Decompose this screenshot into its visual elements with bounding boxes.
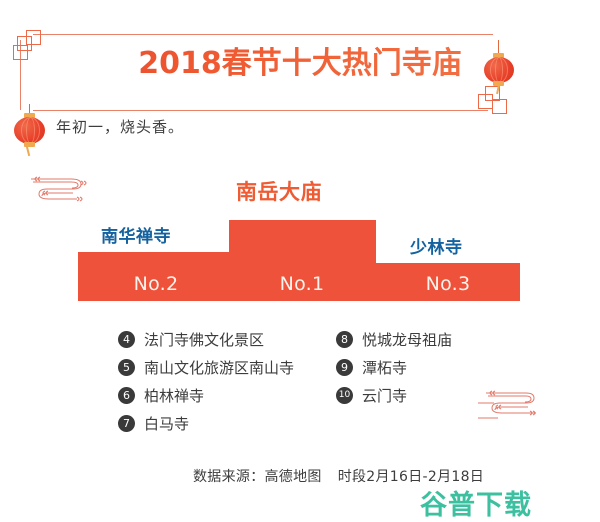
list-item: 6 柏林禅寺 [118,383,338,408]
list-item-label: 白马寺 [144,413,189,434]
rank-badge: 10 [336,387,353,404]
rank-badge: 5 [118,359,135,376]
list-item: 10 云门寺 [336,383,496,408]
podium-rank-second: No.2 [126,273,186,295]
list-item: 9 潭柘寺 [336,355,496,380]
footer-source-label: 数据来源： [193,469,265,485]
list-item: 5 南山文化旅游区南山寺 [118,355,338,380]
subtitle: 年初一，烧头香。 [56,116,184,137]
list-item-label: 柏林禅寺 [144,385,204,406]
podium-rank-first: No.1 [272,273,332,295]
rank-badge: 6 [118,387,135,404]
frame-bottom-line [33,110,488,111]
rank-badge: 9 [336,359,353,376]
ranked-list-column-left: 4 法门寺佛文化景区 5 南山文化旅游区南山寺 6 柏林禅寺 7 白马寺 [118,327,338,439]
podium-label-first: 南岳大庙 [236,176,322,206]
list-item-label: 法门寺佛文化景区 [144,329,264,350]
infographic-canvas: 2018春节十大热门寺庙 年初一，烧头香。 [0,0,600,517]
podium-label-third: 少林寺 [410,233,463,258]
list-item-label: 南山文化旅游区南山寺 [144,357,294,378]
list-item-label: 潭柘寺 [362,357,407,378]
list-item: 4 法门寺佛文化景区 [118,327,338,352]
list-item: 7 白马寺 [118,411,338,436]
footer-source-value: 高德地图 [265,469,322,485]
podium-label-second: 南华禅寺 [101,222,171,247]
rank-badge: 4 [118,331,135,348]
podium-rank-third: No.3 [418,273,478,295]
watermark: 谷普下载 [420,483,532,522]
ranked-list-column-right: 8 悦城龙母祖庙 9 潭柘寺 10 云门寺 [336,327,496,411]
rank-badge: 7 [118,415,135,432]
frame-top-line [33,34,493,35]
list-item: 8 悦城龙母祖庙 [336,327,496,352]
cloud-ornament-icon [31,172,93,210]
list-item-label: 云门寺 [362,385,407,406]
list-item-label: 悦城龙母祖庙 [362,329,452,350]
rank-badge: 8 [336,331,353,348]
